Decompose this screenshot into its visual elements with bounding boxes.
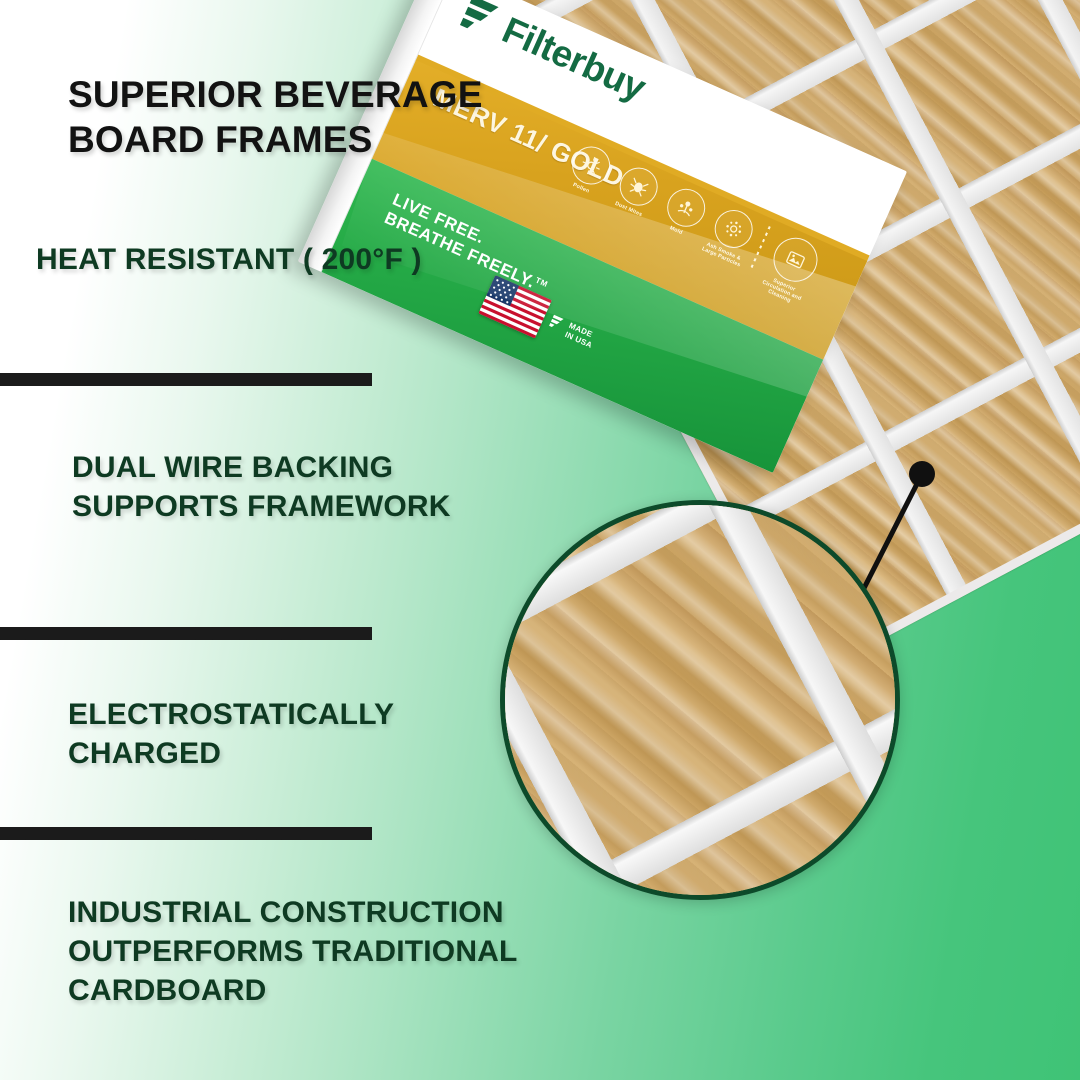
- divider-1: [0, 373, 372, 386]
- page-title: SUPERIOR BEVERAGE BOARD FRAMES: [68, 72, 588, 162]
- feature-text-column: SUPERIOR BEVERAGE BOARD FRAMES HEAT RESI…: [0, 0, 600, 1080]
- feature-electrostatically-charged: ELECTROSTATICALLY CHARGED: [68, 695, 498, 773]
- feature-dual-wire-backing: DUAL WIRE BACKING SUPPORTS FRAMEWORK: [72, 448, 492, 526]
- divider-2: [0, 627, 372, 640]
- divider-3: [0, 827, 372, 840]
- feature-heat-resistant: HEAT RESISTANT ( 200°F ): [36, 240, 456, 279]
- infographic-canvas: Filterbuy MERV 11/ GOLD: [0, 0, 1080, 1080]
- feature-industrial-construction: INDUSTRIAL CONSTRUCTION OUTPERFORMS TRAD…: [68, 893, 588, 1010]
